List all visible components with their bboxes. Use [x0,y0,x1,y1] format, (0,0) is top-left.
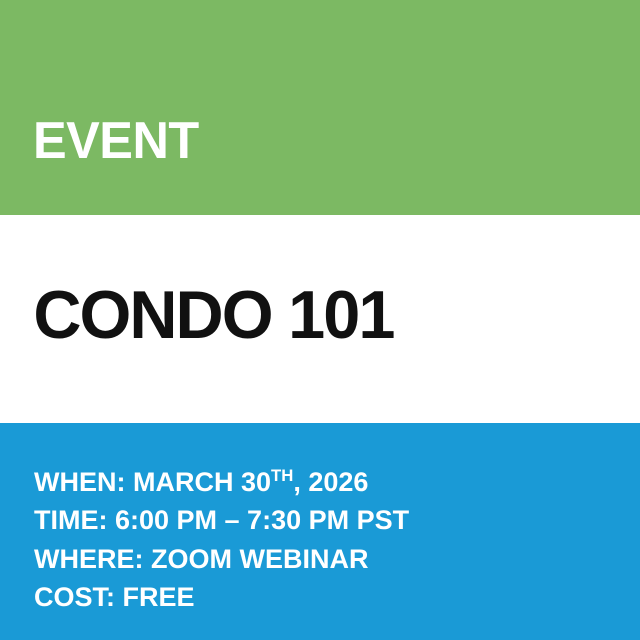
detail-time-value: 6:00 PM – 7:30 PM PST [108,505,410,535]
detail-cost: COST: FREE [34,578,640,616]
detail-time-label: TIME: [34,505,108,535]
detail-cost-label: COST: [34,582,115,612]
detail-when-value-before: MARCH 30 [125,467,271,497]
top-color-band: EVENT [0,0,640,215]
detail-when-value-after: , 2026 [293,467,368,497]
detail-when-label: WHEN: [34,467,125,497]
detail-where-label: WHERE: [34,544,144,574]
page-title: CONDO 101 [0,281,393,357]
event-poster: EVENT CONDO 101 WHEN: MARCH 30TH, 2026 T… [0,0,640,640]
detail-time: TIME: 6:00 PM – 7:30 PM PST [34,501,640,539]
detail-when-superscript: TH [271,466,293,485]
detail-where: WHERE: ZOOM WEBINAR [34,540,640,578]
details-band: WHEN: MARCH 30TH, 2026 TIME: 6:00 PM – 7… [0,423,640,640]
title-band: CONDO 101 [0,215,640,423]
detail-cost-value: FREE [115,582,195,612]
detail-when: WHEN: MARCH 30TH, 2026 [34,463,640,501]
eyebrow-label: EVENT [0,115,199,215]
detail-where-value: ZOOM WEBINAR [144,544,369,574]
